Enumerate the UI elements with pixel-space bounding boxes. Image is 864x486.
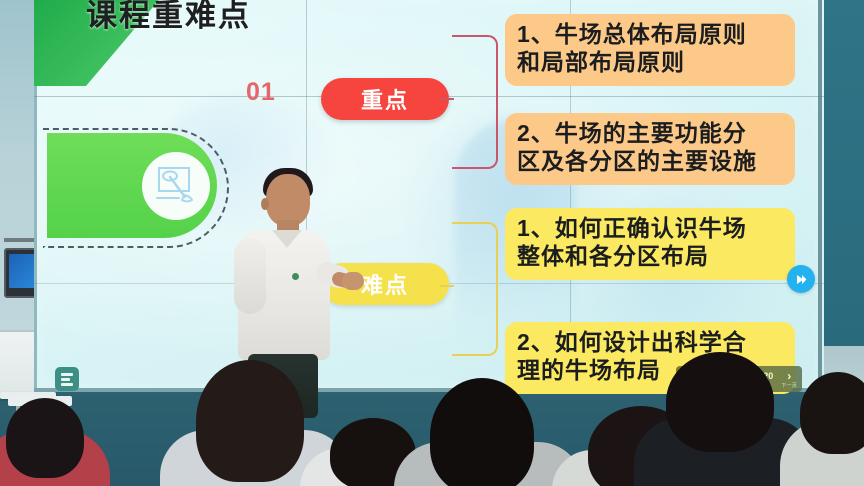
slide-card-2: 2、牛场的主要功能分 区及各分区的主要设施 [505,113,795,185]
slide-card-3-line-2: 整体和各分区布局 [517,242,783,270]
blackboard-pointer-icon [142,152,210,220]
screenshot-root: 课程重难点 01 重点 难点 1、牛场总体布局原则 和局部布局原则 2、牛场的主… [0,0,864,486]
connector-bracket-difficult [452,222,498,356]
teacher-hand [342,272,364,290]
app-icon-bar-2 [61,378,70,381]
slide-card-3-line-1: 1、如何正确认识牛场 [517,214,783,242]
teacher-sleeve [234,238,266,314]
chevron-right-icon: › [787,369,791,383]
slide-card-1-line-2: 和局部布局原则 [517,48,783,76]
section-number: 01 [246,78,276,107]
page-title: 课程重难点 [86,0,251,35]
badge-key-points: 重点 [321,78,449,120]
slide-card-2-line-2: 区及各分区的主要设施 [517,147,783,175]
app-icon-bar-3 [61,383,73,386]
teacher-ear [261,198,269,210]
slide-card-1-line-1: 1、牛场总体布局原则 [517,20,783,48]
connector-stub-difficult [440,285,454,287]
wall-tablet-screen [9,254,35,288]
connector-bracket-key [452,35,498,169]
slide-card-1: 1、牛场总体布局原则 和局部布局原则 [505,14,795,86]
student-head [6,398,84,478]
screen-bezel-right [818,0,822,392]
next-page-button[interactable]: › 下一页 [781,369,797,389]
teacher-head [266,174,310,226]
connector-stub-key [440,98,454,100]
media-play-icon[interactable] [787,265,815,293]
slide-card-3: 1、如何正确认识牛场 整体和各分区布局 [505,208,795,280]
next-page-label: 下一页 [781,384,797,389]
slides-app-icon[interactable] [55,367,79,391]
student-head [196,360,304,482]
student-head [666,352,774,452]
app-icon-bar-1 [61,373,73,376]
teacher-microphone-icon [292,273,299,280]
student-head [430,378,534,486]
slide-card-4-line-1: 2、如何设计出科学合 [517,328,783,356]
slide-card-2-line-1: 2、牛场的主要功能分 [517,119,783,147]
wall-right-panel [820,0,864,350]
student-head [800,372,864,454]
